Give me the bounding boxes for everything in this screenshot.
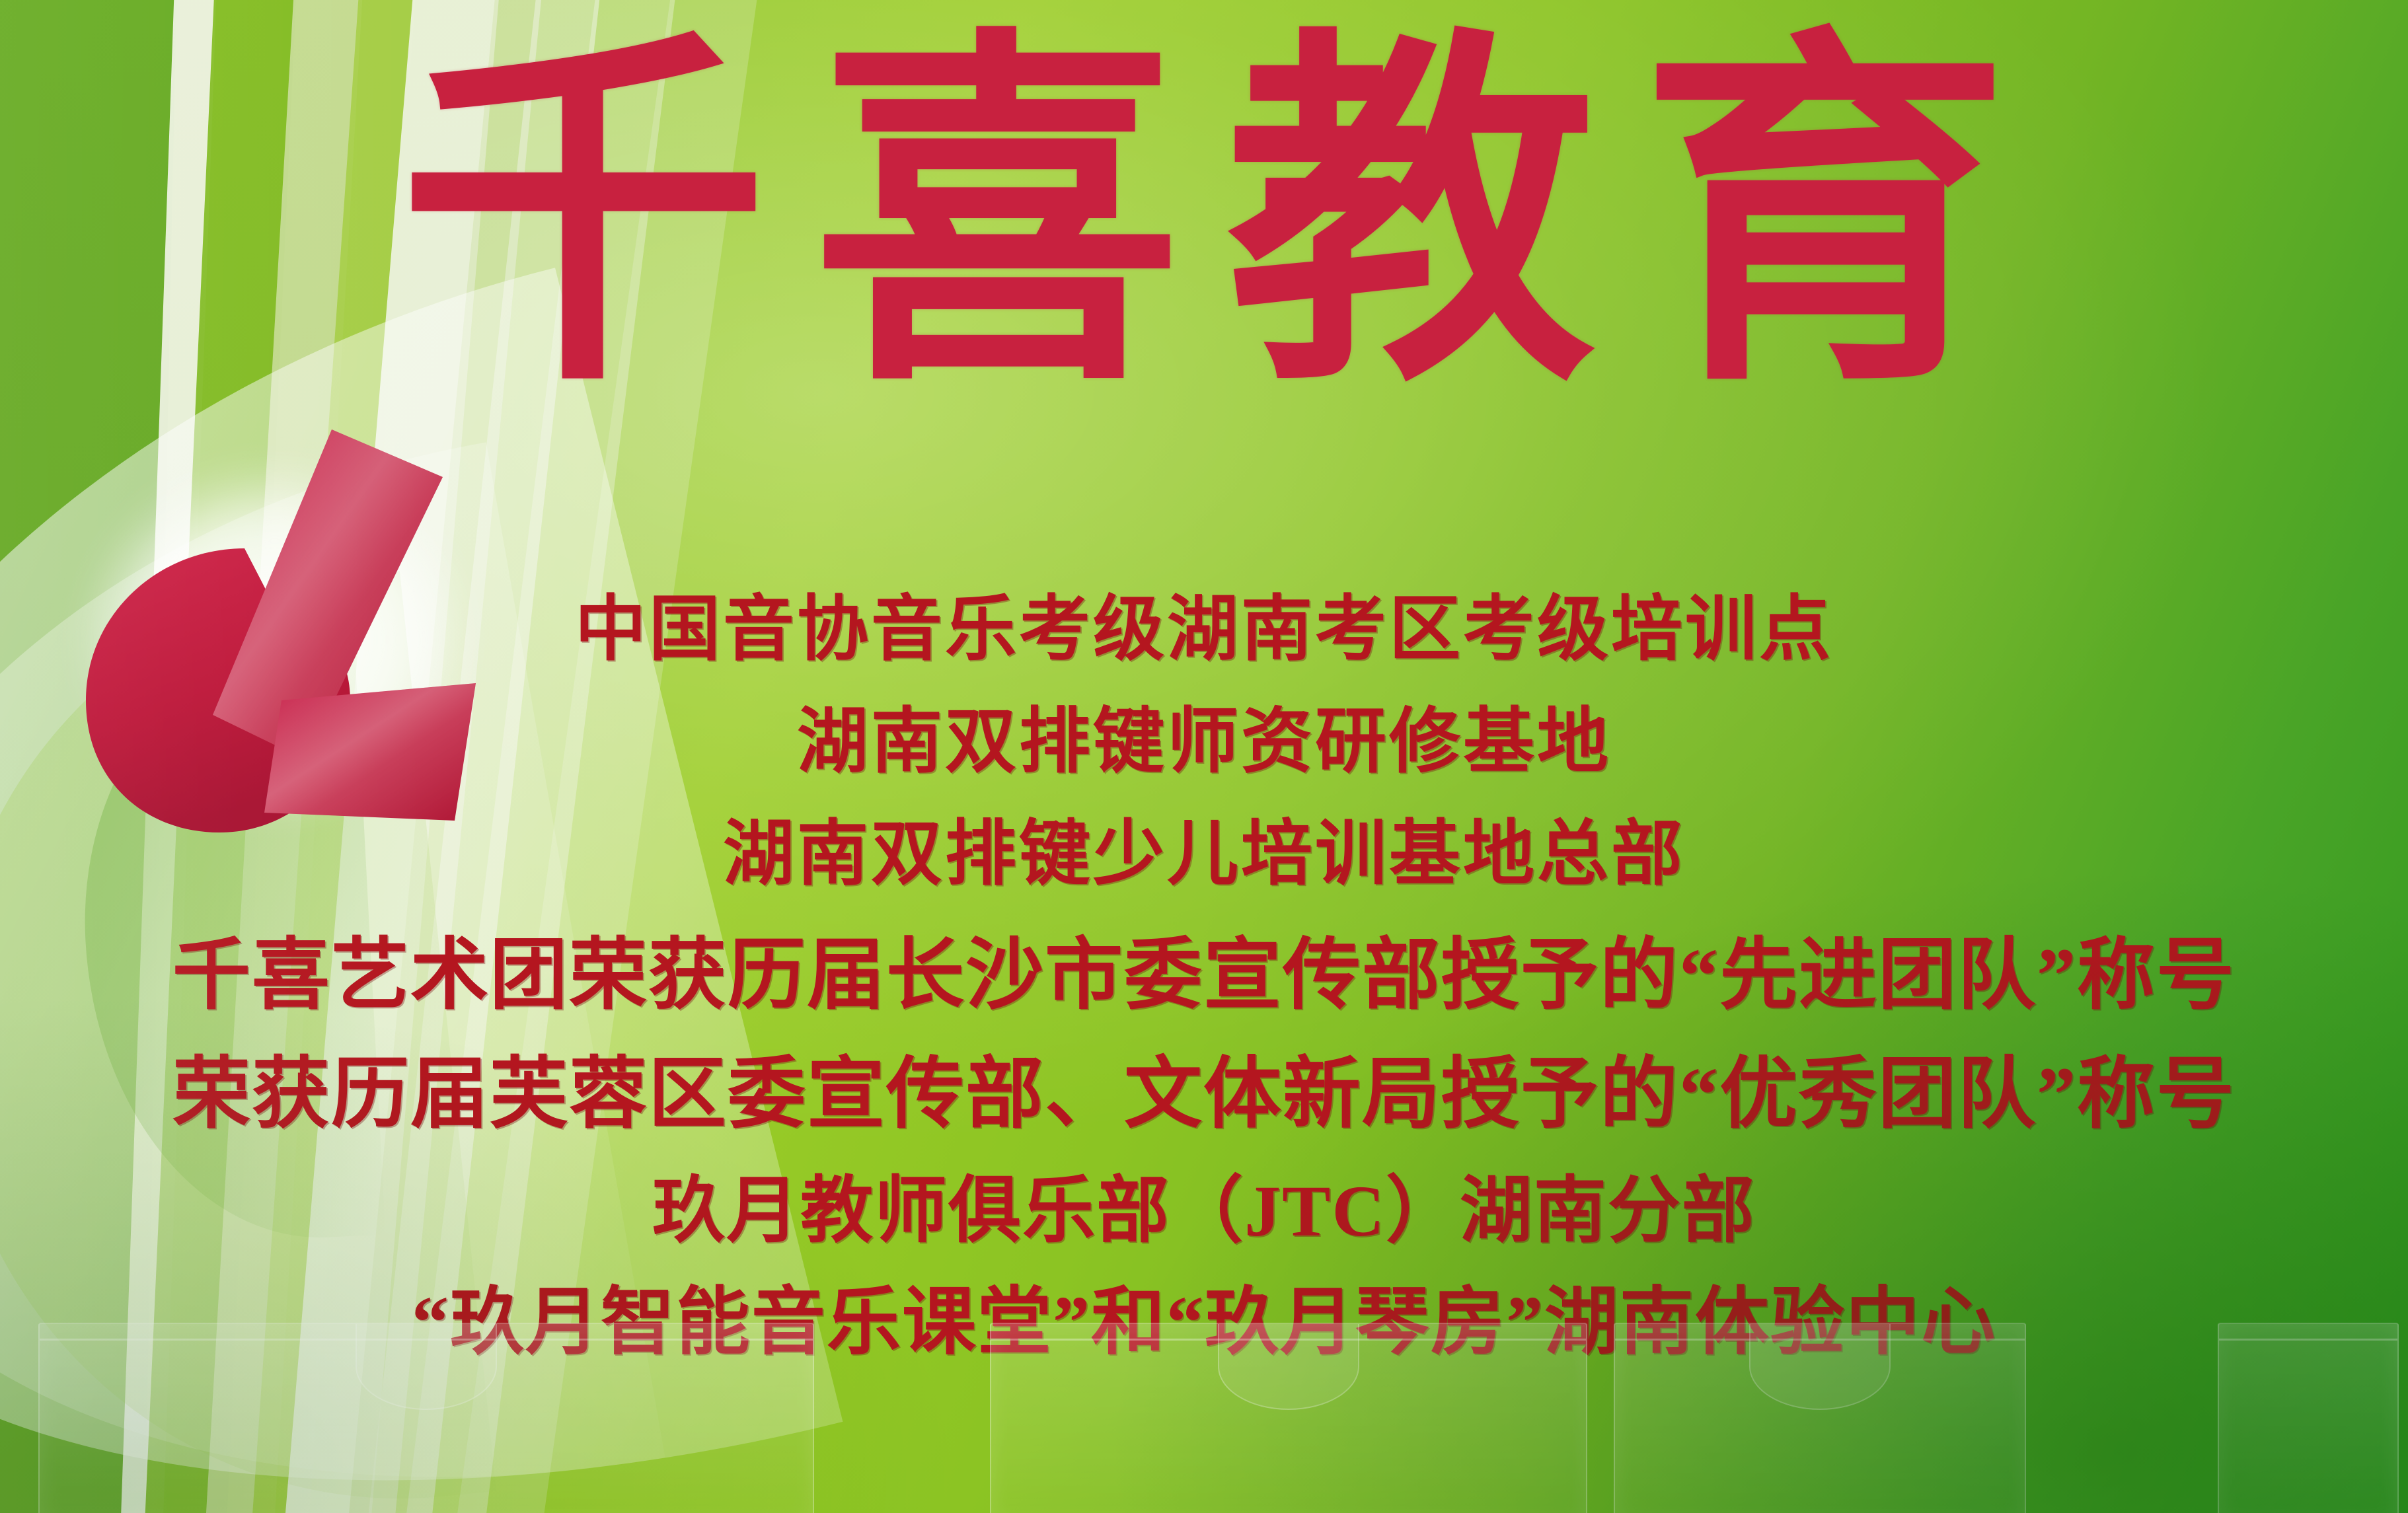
brochure-holder-2[interactable] bbox=[990, 1323, 1587, 1513]
brochure-holder-3[interactable] bbox=[1614, 1323, 2026, 1513]
holder-lip bbox=[2219, 1339, 2397, 1341]
credential-line: 荣获历届芙蓉区委宣传部、文体新局授予的“优秀团队”称号 bbox=[0, 1056, 2408, 1175]
brochure-holder-4[interactable] bbox=[2218, 1323, 2399, 1513]
credential-line: 中国音协音乐考级湖南考区考级培训点 bbox=[0, 595, 2408, 707]
holder-notch bbox=[1218, 1323, 1359, 1410]
holder-notch bbox=[356, 1323, 497, 1410]
credential-line: 玖月教师俱乐部（JTC）湖南分部 bbox=[0, 1175, 2408, 1286]
credential-line: 湖南双排键少儿培训基地总部 bbox=[0, 819, 2408, 937]
credential-list: 中国音协音乐考级湖南考区考级培训点 湖南双排键师资研修基地 湖南双排键少儿培训基… bbox=[0, 595, 2408, 1360]
brand-title: 千喜教育 bbox=[0, 30, 2408, 408]
credential-line: 千喜艺术团荣获历届长沙市委宣传部授予的“先进团队”称号 bbox=[0, 937, 2408, 1056]
holder-notch bbox=[1749, 1323, 1891, 1410]
credential-line: 湖南双排键师资研修基地 bbox=[0, 707, 2408, 819]
wall-sign-board: 千喜教育 bbox=[0, 0, 2408, 1513]
brochure-holder-1[interactable] bbox=[38, 1323, 814, 1513]
